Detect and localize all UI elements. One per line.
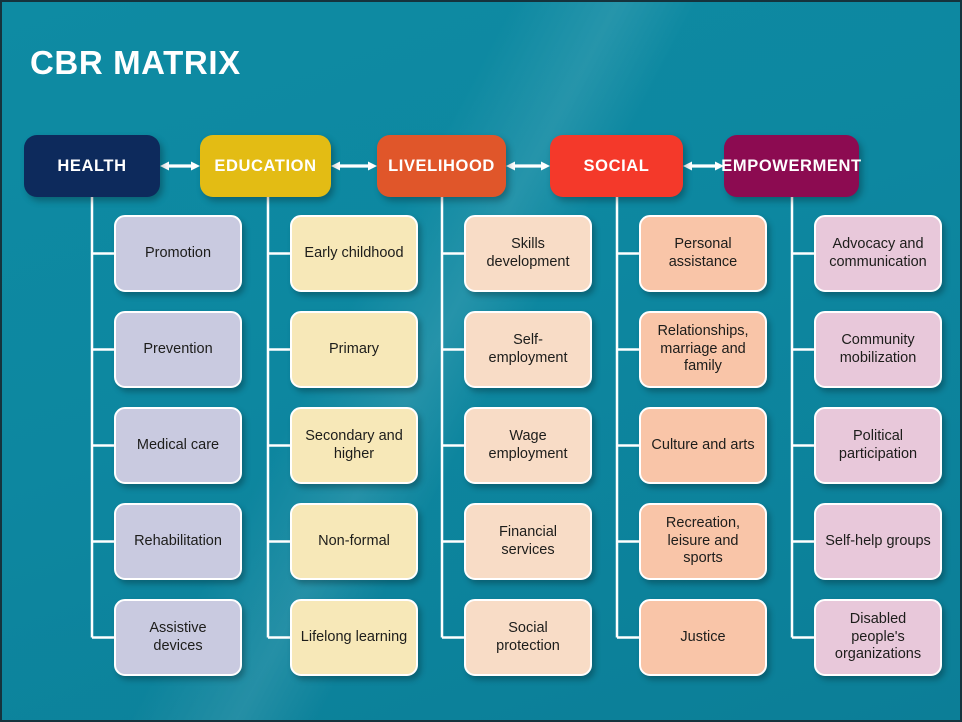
matrix-cell-health-5[interactable]: Assistive devices — [114, 599, 242, 676]
column-header-livelihood[interactable]: LIVELIHOOD — [377, 135, 506, 197]
matrix-cell-livelihood-5[interactable]: Social protection — [464, 599, 592, 676]
matrix-cell-social-2[interactable]: Relationships, marriage and family — [639, 311, 767, 388]
arrow-education-to-livelihood-icon — [331, 162, 377, 171]
matrix-cell-education-4[interactable]: Non-formal — [290, 503, 418, 580]
matrix-cell-livelihood-1[interactable]: Skills development — [464, 215, 592, 292]
cbr-matrix-diagram: CBR MATRIX HEALTHPromotionPreventionMedi… — [0, 0, 962, 722]
arrow-social-to-empowerment-icon — [683, 162, 724, 171]
column-header-health[interactable]: HEALTH — [24, 135, 160, 197]
matrix-cell-health-4[interactable]: Rehabilitation — [114, 503, 242, 580]
matrix-cell-empowerment-3[interactable]: Political participation — [814, 407, 942, 484]
column-header-education[interactable]: EDUCATION — [200, 135, 331, 197]
matrix-cell-social-1[interactable]: Personal assistance — [639, 215, 767, 292]
matrix-cell-empowerment-5[interactable]: Disabled people's organizations — [814, 599, 942, 676]
column-header-empowerment[interactable]: EMPOWERMENT — [724, 135, 859, 197]
matrix-cell-education-3[interactable]: Secondary and higher — [290, 407, 418, 484]
matrix-cell-education-2[interactable]: Primary — [290, 311, 418, 388]
page-title: CBR MATRIX — [30, 44, 241, 82]
column-header-social[interactable]: SOCIAL — [550, 135, 683, 197]
matrix-cell-health-1[interactable]: Promotion — [114, 215, 242, 292]
matrix-cell-social-3[interactable]: Culture and arts — [639, 407, 767, 484]
matrix-cell-empowerment-2[interactable]: Community mobilization — [814, 311, 942, 388]
matrix-cell-social-4[interactable]: Recreation, leisure and sports — [639, 503, 767, 580]
matrix-cell-education-5[interactable]: Lifelong learning — [290, 599, 418, 676]
matrix-cell-livelihood-3[interactable]: Wage employment — [464, 407, 592, 484]
matrix-cell-health-3[interactable]: Medical care — [114, 407, 242, 484]
matrix-cell-empowerment-4[interactable]: Self-help groups — [814, 503, 942, 580]
arrow-health-to-education-icon — [160, 162, 200, 171]
matrix-cell-livelihood-4[interactable]: Financial services — [464, 503, 592, 580]
matrix-cell-health-2[interactable]: Prevention — [114, 311, 242, 388]
matrix-cell-social-5[interactable]: Justice — [639, 599, 767, 676]
matrix-cell-empowerment-1[interactable]: Advocacy and communication — [814, 215, 942, 292]
arrow-livelihood-to-social-icon — [506, 162, 550, 171]
matrix-cell-education-1[interactable]: Early childhood — [290, 215, 418, 292]
matrix-cell-livelihood-2[interactable]: Self- employment — [464, 311, 592, 388]
